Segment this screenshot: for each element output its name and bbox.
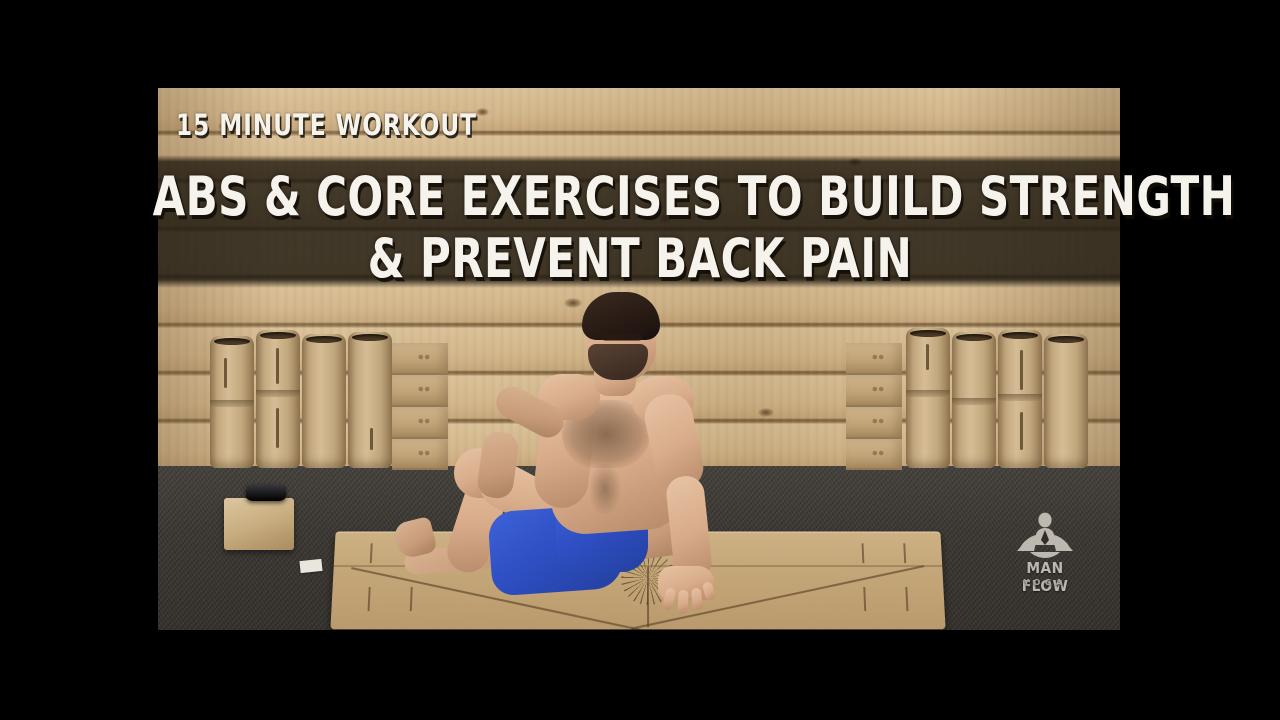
wood-knot <box>758 408 774 417</box>
yoga-block <box>392 407 448 439</box>
eyes <box>602 334 642 341</box>
mat-strap <box>906 390 950 397</box>
mat-marking <box>926 344 929 370</box>
rolled-yoga-mat <box>952 332 996 468</box>
yoga-block <box>392 375 448 407</box>
rolled-yoga-mat <box>256 330 300 468</box>
block-logo <box>416 448 432 458</box>
block-logo <box>870 448 886 458</box>
yoga-block <box>392 439 448 470</box>
video-content-frame <box>158 88 1120 630</box>
mat-tick <box>370 543 373 563</box>
mat-tick <box>903 543 906 563</box>
rolled-yoga-mat <box>210 336 254 468</box>
mat-strap <box>256 390 300 397</box>
rolled-yoga-mat <box>348 332 392 468</box>
mat-marking <box>370 428 373 450</box>
mat-marking <box>276 408 279 448</box>
mat-tick <box>410 587 413 611</box>
block-logo <box>416 384 432 394</box>
rolled-yoga-mat <box>1044 334 1088 468</box>
mat-marking <box>276 348 279 384</box>
wood-knot <box>476 108 489 116</box>
block-logo <box>416 416 432 426</box>
block-logo <box>870 384 886 394</box>
yoga-block <box>392 343 448 375</box>
mat-tick <box>905 587 908 611</box>
finger <box>677 590 689 615</box>
mat-tick <box>862 543 865 563</box>
yoga-block <box>846 439 902 470</box>
paper-scrap <box>299 559 322 573</box>
yoga-block <box>846 375 902 407</box>
rolled-yoga-mat <box>998 330 1042 468</box>
mat-strap <box>998 394 1042 401</box>
cork-block-stand <box>224 498 294 550</box>
mat-marking <box>1020 412 1023 450</box>
abdominal-hair <box>590 464 620 514</box>
wood-knot <box>564 298 582 308</box>
block-logo <box>870 352 886 362</box>
eyebrow-label: 15 MINUTE WORKOUT <box>176 108 477 142</box>
mat-tick <box>368 587 371 611</box>
rolled-yoga-mat <box>302 334 346 468</box>
remote-control <box>246 484 286 501</box>
meditating-figure-icon <box>1014 512 1076 560</box>
mat-marking <box>224 358 227 388</box>
mat-strap <box>210 400 254 407</box>
yoga-block <box>846 407 902 439</box>
mat-strap <box>952 398 996 405</box>
mat-tick <box>863 587 866 611</box>
block-logo <box>416 352 432 362</box>
yoga-block <box>846 343 902 375</box>
mat-marking <box>1020 350 1023 390</box>
brand-logo: MAN FLOW YOGA <box>997 512 1093 596</box>
rolled-yoga-mat <box>906 328 950 468</box>
brand-name: MAN FLOW <box>1001 559 1089 595</box>
title-overlay-band <box>158 155 1120 288</box>
video-thumbnail-screen: 15 MINUTE WORKOUT ABS & CORE EXERCISES T… <box>0 0 1280 720</box>
block-logo <box>870 416 886 426</box>
brand-tagline: YOGA <box>997 578 1093 587</box>
